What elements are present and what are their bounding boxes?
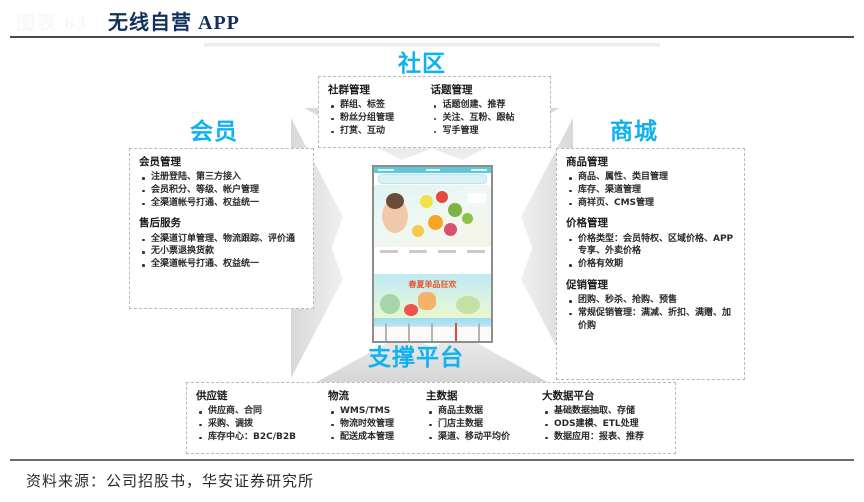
list-item: 采购、调拨 — [197, 418, 318, 431]
nav-label — [381, 342, 391, 343]
bullet-list: 全渠道订单管理、物流跟踪、评价通 无小票退换货款 全渠道帐号打通、权益统一 — [140, 233, 304, 271]
group-topic-management: 话题管理 话题创建、推荐 关注、互粉、跟帖 写手管理 — [431, 84, 542, 137]
user-icon — [478, 323, 480, 342]
list-item: 配送成本管理 — [329, 431, 416, 444]
nav-cart[interactable] — [448, 324, 464, 343]
group-title: 促销管理 — [566, 279, 735, 292]
group-logistics: 物流 WMS/TMS 物流时效管理 配送成本管理 — [328, 390, 416, 443]
category-label — [380, 250, 398, 253]
group-title: 物流 — [328, 390, 416, 403]
list-item: 关注、互粉、跟帖 — [432, 112, 542, 125]
group-after-sales-service: 售后服务 全渠道订单管理、物流跟踪、评价通 无小票退换货款 全渠道帐号打通、权益… — [139, 217, 304, 270]
nav-label — [451, 342, 461, 343]
nav-favorites[interactable] — [424, 324, 440, 343]
figure-number: 图表 63 — [16, 8, 88, 35]
nav-home[interactable] — [378, 324, 394, 343]
status-battery-icon — [471, 169, 487, 171]
bullet-list: 商品主数据 门店主数据 渠道、移动平均价 — [427, 405, 532, 443]
category-item[interactable] — [464, 250, 488, 253]
list-item: 库存、渠道管理 — [567, 184, 735, 197]
category-label — [409, 250, 427, 253]
category-item[interactable] — [435, 250, 459, 253]
section-title-community: 社区 — [398, 44, 446, 78]
phone-promo-banner-1[interactable]: 春夏单品狂欢 — [374, 274, 491, 318]
nav-label — [404, 342, 414, 343]
category-item[interactable] — [406, 250, 430, 253]
list-item: 库存中心：B2C/B2B — [197, 431, 318, 444]
bullet-list: 商品、属性、类目管理 库存、渠道管理 商祥页、CMS管理 — [567, 171, 735, 209]
cart-icon — [455, 323, 457, 342]
list-item: 会员积分、等级、帐户管理 — [140, 184, 304, 197]
group-product-management: 商品管理 商品、属性、类目管理 库存、渠道管理 商祥页、CMS管理 — [566, 156, 735, 209]
bullet-list: 群组、标签 粉丝分组管理 打赏、互动 — [329, 99, 421, 137]
group-title: 会员管理 — [139, 156, 304, 169]
group-price-management: 价格管理 价格类型：会员特权、区域价格、APP专享、外卖价格 价格有效期 — [566, 217, 735, 270]
list-item: 团购、秒杀、抢购、预售 — [567, 294, 735, 307]
hero-fruit-2 — [436, 191, 448, 203]
group-title: 主数据 — [426, 390, 532, 403]
list-item: 价格类型：会员特权、区域价格、APP专享、外卖价格 — [567, 233, 735, 259]
group-title: 商品管理 — [566, 156, 735, 169]
list-item: 常规促销管理：满减、折扣、满赠、加价购 — [567, 307, 735, 333]
phone-search-input[interactable] — [378, 174, 487, 184]
section-title-mall: 商城 — [610, 112, 658, 146]
list-item: 打赏、互动 — [329, 125, 421, 138]
status-carrier-icon — [378, 169, 394, 171]
panel-community: 社群管理 群组、标签 粉丝分组管理 打赏、互动 话题管理 话题创建、推荐 关注、… — [318, 76, 551, 148]
phone-status-bar — [374, 167, 491, 173]
list-item: ODS建模、ETL处理 — [543, 418, 666, 431]
section-title-member: 会员 — [190, 112, 238, 146]
panel-platform: 供应链 供应商、合同 采购、调拨 库存中心：B2C/B2B 物流 WMS/TMS… — [186, 382, 676, 454]
group-title: 售后服务 — [139, 217, 304, 230]
list-item: 门店主数据 — [427, 418, 532, 431]
banner1-leaf-shape — [380, 294, 400, 314]
list-item: 商品主数据 — [427, 405, 532, 418]
list-item: 写手管理 — [432, 125, 542, 138]
group-title: 供应链 — [196, 390, 318, 403]
footer-divider — [10, 459, 854, 461]
group-title: 大数据平台 — [542, 390, 666, 403]
group-title: 社群管理 — [328, 84, 421, 97]
group-supply-chain: 供应链 供应商、合同 采购、调拨 库存中心：B2C/B2B — [196, 390, 318, 443]
category-item[interactable] — [377, 250, 401, 253]
phone-bottom-nav[interactable] — [374, 326, 491, 341]
phone-category-row[interactable] — [374, 247, 491, 274]
group-title: 价格管理 — [566, 217, 735, 230]
section-title-platform: 支撑平台 — [368, 338, 464, 372]
banner1-animal-shape — [418, 292, 436, 310]
list-item: 话题创建、推荐 — [432, 99, 542, 112]
star-icon — [431, 323, 433, 342]
group-promotion-management: 促销管理 团购、秒杀、抢购、预售 常规促销管理：满减、折扣、满赠、加价购 — [566, 279, 735, 332]
bullet-list: 团购、秒杀、抢购、预售 常规促销管理：满减、折扣、满赠、加价购 — [567, 294, 735, 332]
source-note: 资料来源：公司招股书，华安证券研究所 — [26, 470, 314, 491]
list-item: 全渠道帐号打通、权益统一 — [140, 258, 304, 271]
list-item: 基础数据抽取、存储 — [543, 405, 666, 418]
banner1-bush-shape — [456, 296, 480, 314]
list-item: 商品、属性、类目管理 — [567, 171, 735, 184]
banner1-text: 春夏单品狂欢 — [409, 279, 457, 290]
hero-tag-shape — [468, 193, 486, 203]
hero-fruit-3 — [448, 203, 462, 217]
list-item: 物流时效管理 — [329, 418, 416, 431]
list-item: 渠道、移动平均价 — [427, 431, 532, 444]
architecture-diagram: 社区 会员 商城 支撑平台 社群管理 群组、标签 粉丝分组管理 打赏、互动 话题… — [120, 40, 744, 455]
hero-fruit-4 — [428, 215, 443, 230]
list-item: 供应商、合同 — [197, 405, 318, 418]
panel-mall: 商品管理 商品、属性、类目管理 库存、渠道管理 商祥页、CMS管理 价格管理 价… — [556, 148, 745, 380]
bullet-list: WMS/TMS 物流时效管理 配送成本管理 — [329, 405, 416, 443]
nav-label — [427, 342, 437, 343]
home-icon — [385, 323, 387, 342]
category-label — [467, 250, 485, 253]
hero-hair-shape — [386, 193, 404, 209]
list-item: 数据应用：报表、推荐 — [543, 431, 666, 444]
group-master-data: 主数据 商品主数据 门店主数据 渠道、移动平均价 — [426, 390, 532, 443]
group-big-data-platform: 大数据平台 基础数据抽取、存储 ODS建模、ETL处理 数据应用：报表、推荐 — [542, 390, 666, 443]
nav-label — [474, 342, 484, 343]
hero-fruit-7 — [412, 225, 424, 237]
phone-mockup: 春夏单品狂欢 爱自然 S1惠 — [372, 165, 493, 343]
list-item: 商祥页、CMS管理 — [567, 197, 735, 210]
bullet-list: 供应商、合同 采购、调拨 库存中心：B2C/B2B — [197, 405, 318, 443]
hero-fruit-1 — [420, 195, 433, 208]
list-item: 群组、标签 — [329, 99, 421, 112]
phone-hero-banner[interactable] — [374, 185, 491, 247]
header-divider — [10, 36, 854, 38]
list-item: 价格有效期 — [567, 258, 735, 271]
grid-icon — [408, 323, 410, 342]
group-community-group: 社群管理 群组、标签 粉丝分组管理 打赏、互动 — [328, 84, 421, 137]
group-member-management: 会员管理 注册登陆、第三方接入 会员积分、等级、帐户管理 全渠道帐号打通、权益统… — [139, 156, 304, 209]
list-item: 全渠道订单管理、物流跟踪、评价通 — [140, 233, 304, 246]
nav-category[interactable] — [401, 324, 417, 343]
panel-member: 会员管理 注册登陆、第三方接入 会员积分、等级、帐户管理 全渠道帐号打通、权益统… — [129, 148, 314, 309]
list-item: WMS/TMS — [329, 405, 416, 418]
hero-fruit-5 — [444, 223, 457, 236]
bullet-list: 注册登陆、第三方接入 会员积分、等级、帐户管理 全渠道帐号打通、权益统一 — [140, 171, 304, 209]
nav-profile[interactable] — [471, 324, 487, 343]
banner1-fruit-shape — [404, 304, 418, 316]
bullet-list: 价格类型：会员特权、区域价格、APP专享、外卖价格 价格有效期 — [567, 233, 735, 271]
bullet-list: 话题创建、推荐 关注、互粉、跟帖 写手管理 — [432, 99, 542, 137]
hero-fruit-6 — [462, 213, 473, 224]
list-item: 粉丝分组管理 — [329, 112, 421, 125]
page-title: 无线自营 APP — [108, 6, 240, 35]
status-clock-icon — [426, 169, 440, 171]
list-item: 无小票退换货款 — [140, 245, 304, 258]
bullet-list: 基础数据抽取、存储 ODS建模、ETL处理 数据应用：报表、推荐 — [543, 405, 666, 443]
page-header: 图表 63 无线自营 APP — [0, 0, 864, 38]
list-item: 注册登陆、第三方接入 — [140, 171, 304, 184]
list-item: 全渠道帐号打通、权益统一 — [140, 197, 304, 210]
category-label — [438, 250, 456, 253]
group-title: 话题管理 — [431, 84, 542, 97]
